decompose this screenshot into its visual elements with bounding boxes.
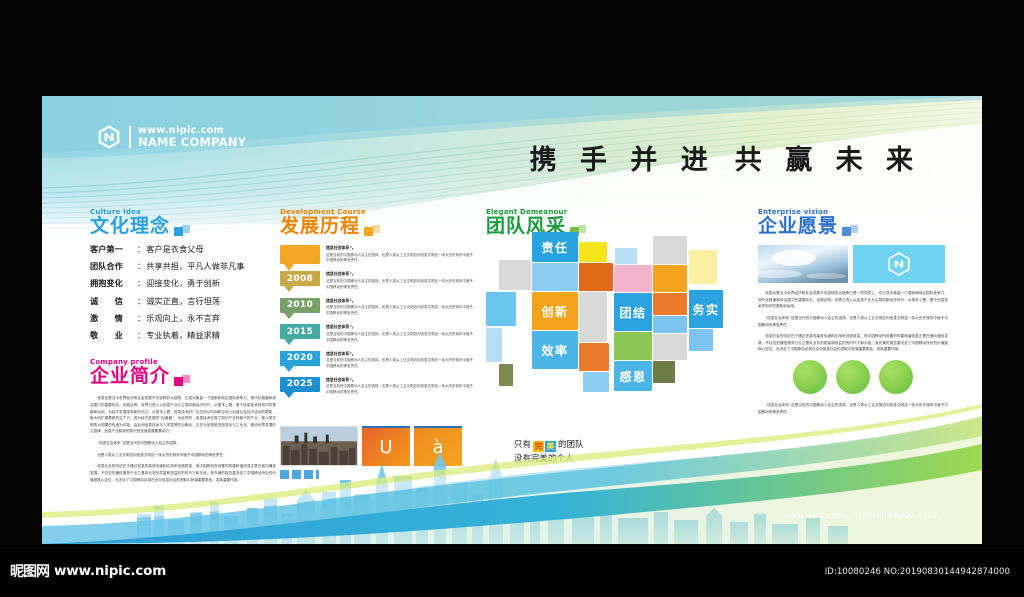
timeline-year-badge: 2025: [280, 377, 320, 392]
mosaic-tile: [583, 372, 609, 392]
culture-colon: ：: [137, 245, 145, 253]
mosaic-tile: [689, 250, 717, 284]
mosaic-tile: [579, 292, 607, 342]
timeline-year-badge: 2010: [280, 298, 320, 313]
timeline-year-badge: 2015: [280, 324, 320, 339]
paragraph: “信息社会体系”这是当代的中国移动人自主的选择。也是人类从工业文明迈向信息文明这…: [758, 315, 948, 328]
footer-ribbon-graphic: [42, 394, 982, 544]
mosaic-value-tile: 责任: [532, 232, 578, 262]
logo-text-block: www.nipic.com NAME COMPANY: [138, 126, 246, 148]
timeline-body: 信息社会体系”。 这是当前的中国移动人自主的选择，也是人类从工业文明迈向信息文明…: [326, 324, 476, 343]
culture-value-list: 客户第一 ： 客户是衣食父母 团队合作 ： 共享共担，平凡人做非凡事 拥抱变化 …: [90, 245, 276, 339]
mosaic-tile: [614, 332, 652, 360]
list-item: 拥抱变化 ： 迎接变化，勇于创新: [90, 279, 276, 287]
culture-colon: ：: [137, 314, 145, 322]
poster-canvas: www.nipic.com NAME COMPANY 携 手 并 进共 赢 未 …: [42, 96, 982, 544]
culture-colon: ：: [137, 331, 145, 339]
list-item: 激 情 ： 乐观向上，永不言弃: [90, 314, 276, 322]
headline-right: 共 赢 未 来: [735, 145, 920, 176]
sky-photo: [758, 245, 848, 283]
paragraph: 信息化是当今世界经济和社会发展不可逆转的大趋势已是一项同意上，均已成为衡量一个国…: [758, 290, 948, 310]
timeline-title: 信息社会体系”。: [326, 377, 476, 383]
timeline-title: 信息社会体系”。: [326, 324, 476, 330]
culture-key: 团队合作: [90, 262, 136, 270]
vision-section-title: 企业愿景: [758, 217, 838, 236]
timeline-desc: 这是当前的中国移动人自主的选择，也是人类从工业文明迈向信息文明这一伟大历史转折中…: [326, 279, 476, 291]
vision-circles: [758, 360, 948, 394]
timeline-year-badge: 2020: [280, 351, 320, 366]
culture-value: 乐观向上，永不言弃: [146, 314, 220, 322]
vision-square-icon: [842, 225, 858, 236]
timeline-desc: 这是当前的中国移动人自主的选择，也是人类从工业文明迈向信息文明这一伟大历史转折中…: [326, 358, 476, 370]
logo-divider: [129, 126, 131, 148]
poster-footer-tel: TLE:4000 8000 4488: [855, 511, 938, 520]
mosaic-tile: [653, 236, 687, 264]
mosaic-tile: [499, 364, 513, 386]
list-item: 客户第一 ： 客户是衣食父母: [90, 245, 276, 253]
nipic-url[interactable]: www.nipic.com: [54, 563, 166, 579]
course-section-head: 发展历程: [280, 217, 476, 236]
timeline: 信息社会体系”。 这是当前的中国移动人自主的选择，也是人类从工业文明迈向信息文明…: [280, 245, 476, 396]
timeline-year: 2010: [280, 298, 320, 313]
mosaic-tile: [486, 328, 502, 362]
culture-colon: ：: [137, 297, 145, 305]
paragraph: 信息社会的特征在于通过信息的高效传递和应用来创造财富，而中国移动所设置的构建和谐…: [758, 333, 948, 353]
culture-key: 拥抱变化: [90, 279, 136, 287]
culture-value: 迎接变化，勇于创新: [146, 279, 220, 287]
mosaic-value-tile: 创新: [532, 292, 578, 330]
mosaic-tile: [614, 265, 652, 292]
logo-company-name: NAME COMPANY: [138, 136, 246, 148]
mosaic-tile: [653, 293, 687, 315]
page-footer-bar: 昵图网 www.nipic.com ID:10080246 NO:2019083…: [0, 545, 1024, 597]
mosaic-tile: [486, 292, 516, 326]
list-item: 诚 信 ： 诚实正直，言行坦荡: [90, 297, 276, 305]
timeline-year-badge: 2008: [280, 271, 320, 286]
vision-image-row: [758, 245, 948, 283]
profile-section-head: 企业简介: [90, 367, 276, 386]
list-item: 敬 业 ： 专业执着，精益求精: [90, 331, 276, 339]
nipic-logo-text: 昵图网: [10, 561, 49, 581]
column-course: Development Course 发展历程 信息社会体系”。 这是当前的中国…: [280, 208, 476, 403]
hexagon-n-logo-icon: [96, 124, 122, 150]
culture-value: 诚实正直，言行坦荡: [146, 297, 220, 305]
course-section-title: 发展历程: [280, 217, 360, 236]
mosaic-tile: [653, 265, 687, 292]
mosaic-tile: [499, 260, 531, 290]
site-branding[interactable]: 昵图网 www.nipic.com: [10, 561, 166, 581]
mosaic-tile: [653, 334, 687, 360]
timeline-item: 信息社会体系”。 这是当前的中国移动人自主的选择，也是人类从工业文明迈向信息文明…: [280, 245, 476, 264]
mosaic-value-tile: 团结: [614, 293, 652, 331]
timeline-year: [280, 245, 320, 264]
culture-colon: ：: [137, 279, 145, 287]
hexagon-n-logo-icon: [886, 251, 912, 277]
culture-key: 敬 业: [90, 331, 136, 339]
green-circle: [793, 360, 827, 394]
mosaic-value-tile: 效率: [532, 331, 578, 369]
timeline-year-badge: [280, 245, 320, 264]
culture-key: 激 情: [90, 314, 136, 322]
culture-value: 共享共担，平凡人做非凡事: [146, 262, 244, 270]
list-item: 团队合作 ： 共享共担，平凡人做非凡事: [90, 262, 276, 270]
timeline-title: 信息社会体系”。: [326, 271, 476, 277]
mosaic-value-tile: 感恩: [614, 361, 652, 391]
culture-key: 客户第一: [90, 245, 136, 253]
culture-square-icon: [174, 225, 190, 236]
timeline-body: 信息社会体系”。 这是当前的中国移动人自主的选择，也是人类从工业文明迈向信息文明…: [326, 351, 476, 370]
timeline-body: 信息社会体系”。 这是当前的中国移动人自主的选择，也是人类从工业文明迈向信息文明…: [326, 271, 476, 290]
culture-value: 客户是衣食父母: [146, 245, 203, 253]
vision-body-top: 信息化是当今世界经济和社会发展不可逆转的大趋势已是一项同意上，均已成为衡量一个国…: [758, 290, 948, 353]
timeline-body: 信息社会体系”。 这是当前的中国移动人自主的选择，也是人类从工业文明迈向信息文明…: [326, 298, 476, 317]
profile-section-title: 企业简介: [90, 367, 170, 386]
timeline-desc: 这是当前的中国移动人自主的选择，也是人类从工业文明迈向信息文明这一伟大历史转折中…: [326, 305, 476, 317]
timeline-body: 信息社会体系”。 这是当前的中国移动人自主的选择，也是人类从工业文明迈向信息文明…: [326, 245, 476, 264]
poster-headline: 携 手 并 进共 赢 未 来: [530, 138, 920, 177]
timeline-title: 信息社会体系”。: [326, 351, 476, 357]
timeline-desc: 这是当前的中国移动人自主的选择，也是人类从工业文明迈向信息文明这一伟大历史转折中…: [326, 253, 476, 265]
mosaic-value-tile: 务实: [689, 290, 723, 328]
culture-value: 专业执着，精益求精: [146, 331, 220, 339]
mosaic-tile: [689, 329, 713, 351]
culture-section-title: 文化理念: [90, 217, 170, 236]
timeline-item: 2015 信息社会体系”。 这是当前的中国移动人自主的选择，也是人类从工业文明迈…: [280, 324, 476, 343]
page-background: www.nipic.com NAME COMPANY 携 手 并 进共 赢 未 …: [0, 0, 1024, 597]
poster-logo: www.nipic.com NAME COMPANY: [96, 124, 246, 150]
culture-section-head: 文化理念: [90, 217, 276, 236]
timeline-desc: 这是当前的中国移动人自主的选择，也是人类从工业文明迈向信息文明这一伟大历史转折中…: [326, 332, 476, 344]
green-circle: [836, 360, 870, 394]
mosaic-tile: [653, 361, 675, 383]
image-meta-id: ID:10080246 NO:20190830144942874000: [825, 567, 1010, 577]
vision-logo-tile: [853, 245, 945, 283]
culture-key: 诚 信: [90, 297, 136, 305]
culture-colon: ：: [137, 262, 145, 270]
timeline-year: 2008: [280, 271, 320, 286]
timeline-title: 信息社会体系”。: [326, 298, 476, 304]
timeline-item: 2010 信息社会体系”。 这是当前的中国移动人自主的选择，也是人类从工业文明迈…: [280, 298, 476, 317]
vision-section-head: 企业愿景: [758, 217, 948, 236]
mosaic-tile: [579, 242, 607, 262]
poster-footer-url: www.nipic.com: [784, 511, 844, 520]
timeline-item: 2008 信息社会体系”。 这是当前的中国移动人自主的选择，也是人类从工业文明迈…: [280, 271, 476, 290]
mosaic-tile: [579, 343, 609, 371]
timeline-title: 信息社会体系”。: [326, 245, 476, 251]
mosaic-tile: [615, 248, 637, 264]
mosaic-tile: [653, 316, 687, 333]
headline-left: 携 手 并 进: [530, 145, 715, 176]
mosaic-tile: [579, 263, 613, 291]
green-circle: [879, 360, 913, 394]
timeline-item: 2020 信息社会体系”。 这是当前的中国移动人自主的选择，也是人类从工业文明迈…: [280, 351, 476, 370]
poster-footer: www.nipic.comTLE:4000 8000 4488: [784, 511, 938, 520]
timeline-year: 2025: [280, 377, 320, 392]
course-square-icon: [364, 225, 380, 236]
timeline-year: 2020: [280, 351, 320, 366]
profile-square-icon: [174, 375, 190, 386]
timeline-year: 2015: [280, 324, 320, 339]
mosaic-tile: [532, 263, 578, 291]
column-vision: Enterprise vision 企业愿景: [758, 208, 948, 420]
